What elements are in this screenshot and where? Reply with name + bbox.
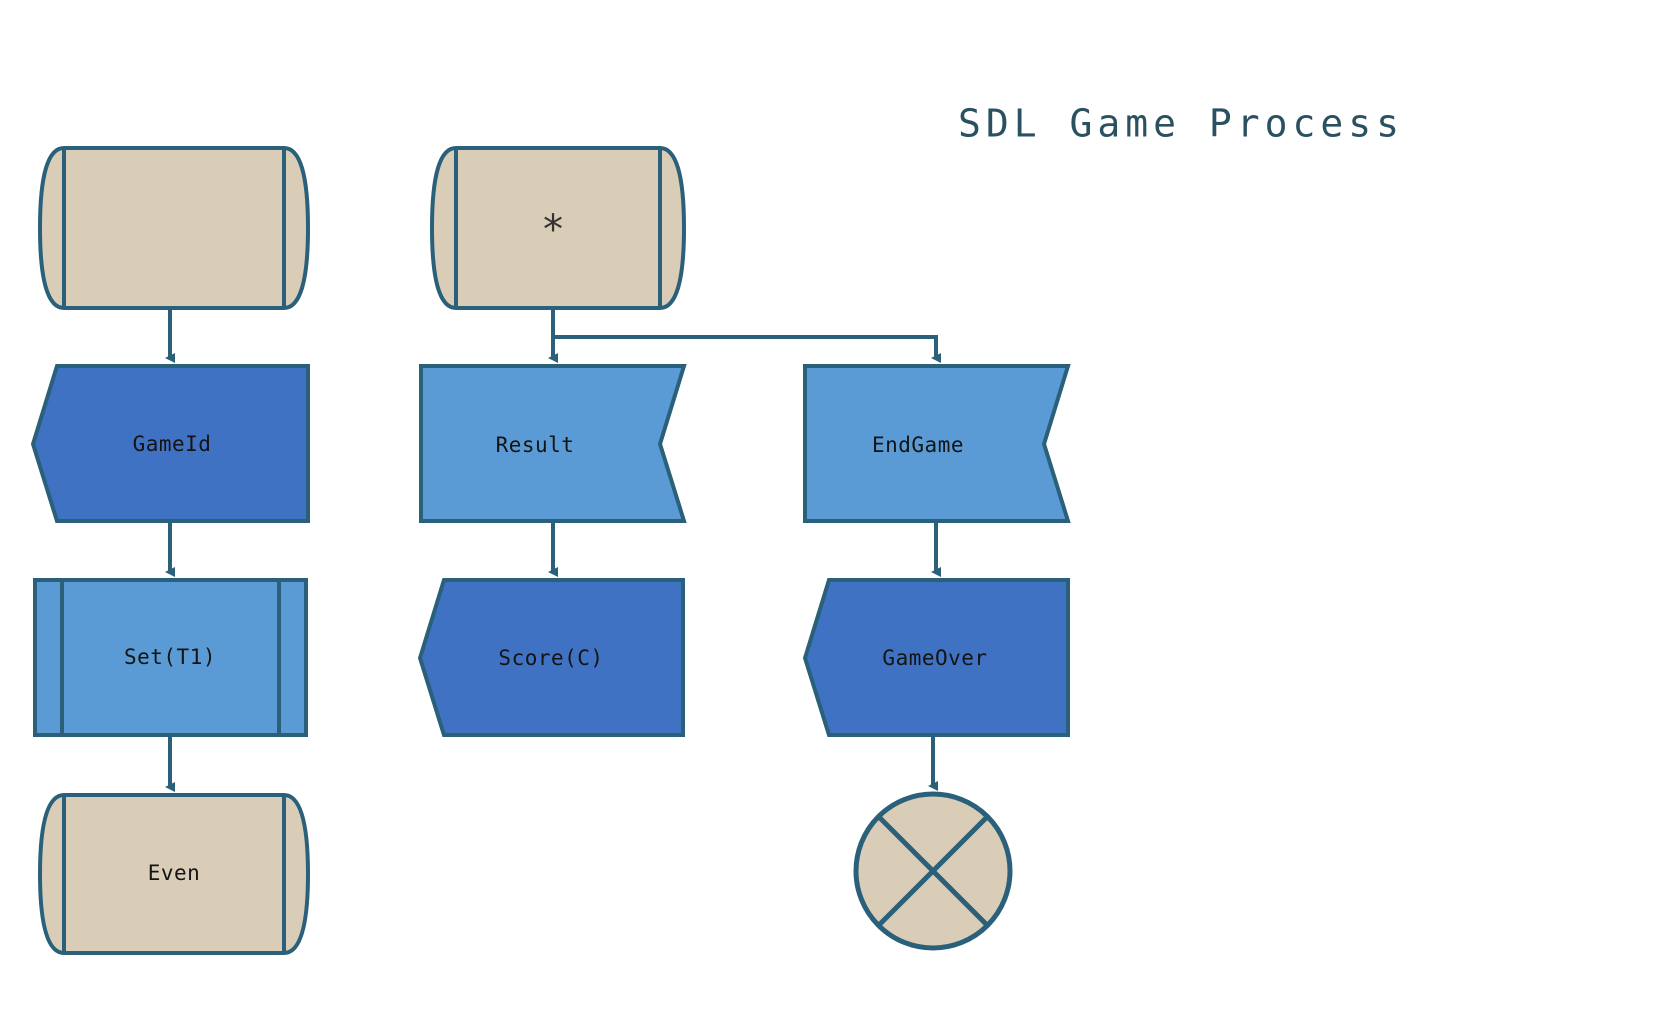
node-input-gameid[interactable]: GameId: [33, 366, 308, 521]
conn-asterisk-to-endgame: [553, 320, 936, 358]
node-input-score-c[interactable]: Score(C): [420, 580, 683, 735]
page-title: SDL Game Process: [958, 102, 1404, 146]
state-symbol-body: [40, 148, 308, 308]
node-label: Result: [496, 433, 575, 457]
node-label: Even: [148, 861, 201, 885]
node-label: Score(C): [498, 646, 603, 670]
node-state-asterisk[interactable]: *: [432, 148, 684, 308]
sdl-diagram-svg: GameId Set(T1) Even * Result Scor: [0, 0, 1653, 1033]
diagram-canvas: GameId Set(T1) Even * Result Scor: [0, 0, 1653, 1033]
node-terminator-stop[interactable]: [856, 794, 1010, 948]
node-state-even[interactable]: Even: [40, 795, 308, 953]
node-input-gameover[interactable]: GameOver: [805, 580, 1068, 735]
node-label: EndGame: [872, 433, 964, 457]
asterisk-state-label: *: [541, 207, 565, 253]
node-label: GameOver: [882, 646, 987, 670]
node-output-result[interactable]: Result: [421, 366, 684, 521]
node-output-endgame[interactable]: EndGame: [805, 366, 1068, 521]
node-label: GameId: [133, 432, 212, 456]
node-label: Set(T1): [124, 645, 216, 669]
node-state-start[interactable]: [40, 148, 308, 308]
node-procedure-set-t1[interactable]: Set(T1): [35, 580, 306, 735]
connector-elbow-path: [553, 320, 936, 358]
